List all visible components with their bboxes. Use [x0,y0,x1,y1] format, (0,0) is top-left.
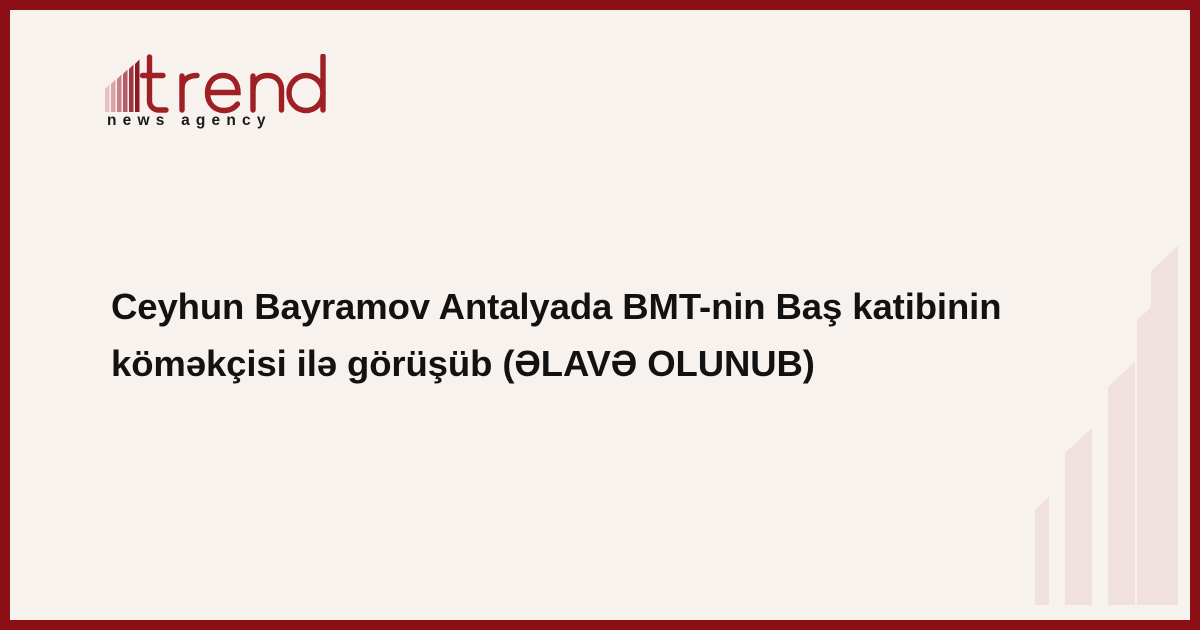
card-inner: news agency Ceyhun Bayramov Antalyada BM… [10,10,1190,620]
logo-wordmark [143,56,324,111]
logo-bars-icon [105,60,140,113]
watermark-bar-3 [1108,362,1135,605]
article-headline: Ceyhun Bayramov Antalyada BMT-nin Baş ka… [111,278,1071,392]
logo-mark [104,54,366,116]
watermark-bar-1 [1035,497,1049,605]
share-card: news agency Ceyhun Bayramov Antalyada BM… [0,0,1200,630]
logo-tagline: news agency [107,112,272,130]
watermark-bar-2 [1065,428,1092,605]
brand-logo[interactable]: news agency [104,54,364,138]
watermark-bar-5 [1151,246,1178,605]
